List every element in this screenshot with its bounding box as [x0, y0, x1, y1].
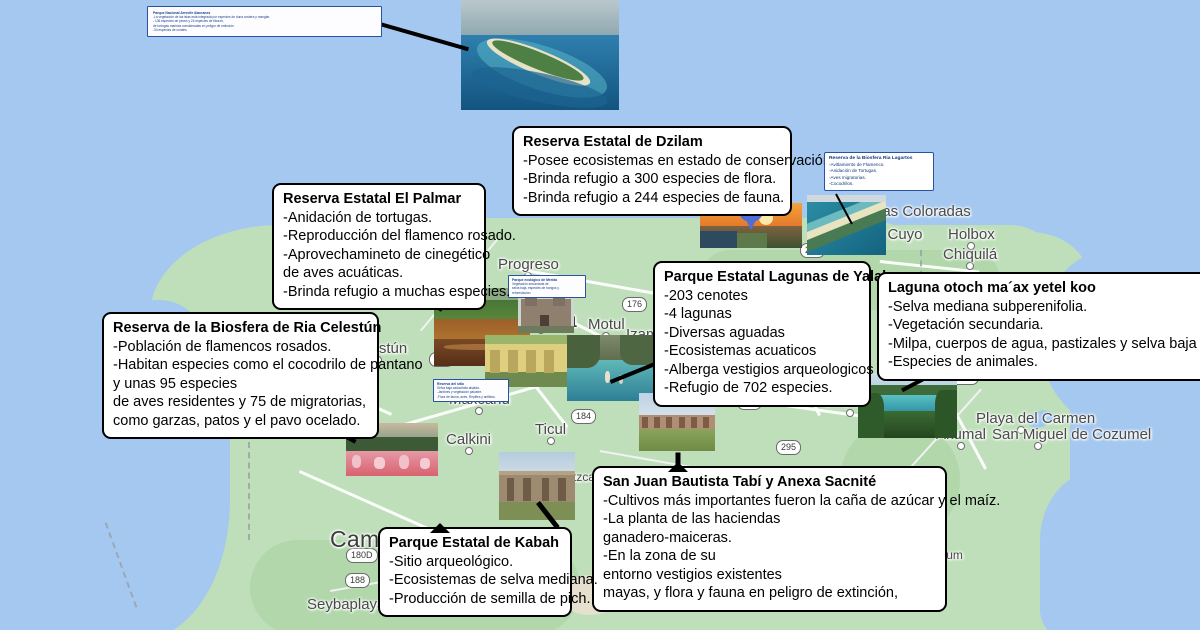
highway-shield-295b: 295 — [776, 440, 801, 455]
city-ticul: Ticul — [535, 423, 566, 445]
callout-tail-tabi — [668, 462, 688, 472]
callout-alacranes[interactable]: Parque Nacional Arrecife Alacranes -La v… — [147, 6, 382, 37]
city-seybaplaya: Seybaplaya — [307, 598, 385, 612]
callout-dzilam[interactable]: Reserva Estatal de Dzilam -Posee ecosist… — [512, 126, 792, 216]
highway-shield-188: 188 — [345, 573, 370, 588]
photo-alacranes — [461, 0, 619, 110]
city-dot — [966, 262, 974, 270]
photo-otoch-lagoon — [858, 373, 957, 438]
callout-otoch[interactable]: Laguna otoch ma´ax yetel koo -Selva medi… — [877, 272, 1200, 381]
city-dot — [846, 409, 854, 417]
callout-tail-kabah — [430, 523, 450, 533]
callout-ria-lagartos[interactable]: Reserva de la Biosfera Ria Lagartos -Avi… — [824, 152, 934, 191]
callout-yalahau[interactable]: Parque Estatal Lagunas de Yalahau -203 c… — [653, 261, 871, 407]
map-bay-east — [1040, 470, 1160, 630]
photo-kabah-ruins — [499, 452, 575, 520]
photo-lagartos-coast — [807, 195, 886, 255]
city-dot — [465, 447, 473, 455]
city-las-coloradas: Las Coloradas — [874, 205, 971, 219]
city-dot — [547, 437, 555, 445]
infographic-map: 295 176 180 184 281 188 188 180D 295 305… — [0, 0, 1200, 630]
highway-shield-184: 184 — [571, 409, 596, 424]
city-calkini: Calkini — [446, 433, 491, 455]
city-chiquila: Chiquilá — [943, 248, 997, 270]
callout-ria-celestun[interactable]: Reserva de la Biosfera de Ria Celestún -… — [102, 312, 379, 439]
callout-map-note-maxcanu[interactable]: Reserva del sitio Selva baja caducifolia… — [433, 379, 509, 402]
callout-el-palmar[interactable]: Reserva Estatal El Palmar -Anidación de … — [272, 183, 486, 310]
city-san-miguel-de-cozumel: San Miguel de Cozumel — [992, 428, 1084, 450]
highway-shield-176: 176 — [622, 297, 647, 312]
city-dot — [957, 442, 965, 450]
city-dot — [1034, 442, 1042, 450]
callout-map-note-merida[interactable]: Parque ecológico de Merida Vegetación se… — [508, 275, 586, 298]
city-dot — [475, 407, 483, 415]
callout-tabi[interactable]: San Juan Bautista Tabí y Anexa Sacnité -… — [592, 466, 947, 612]
callout-kabah[interactable]: Parque Estatal de Kabah -Sitio arqueológ… — [378, 527, 572, 617]
